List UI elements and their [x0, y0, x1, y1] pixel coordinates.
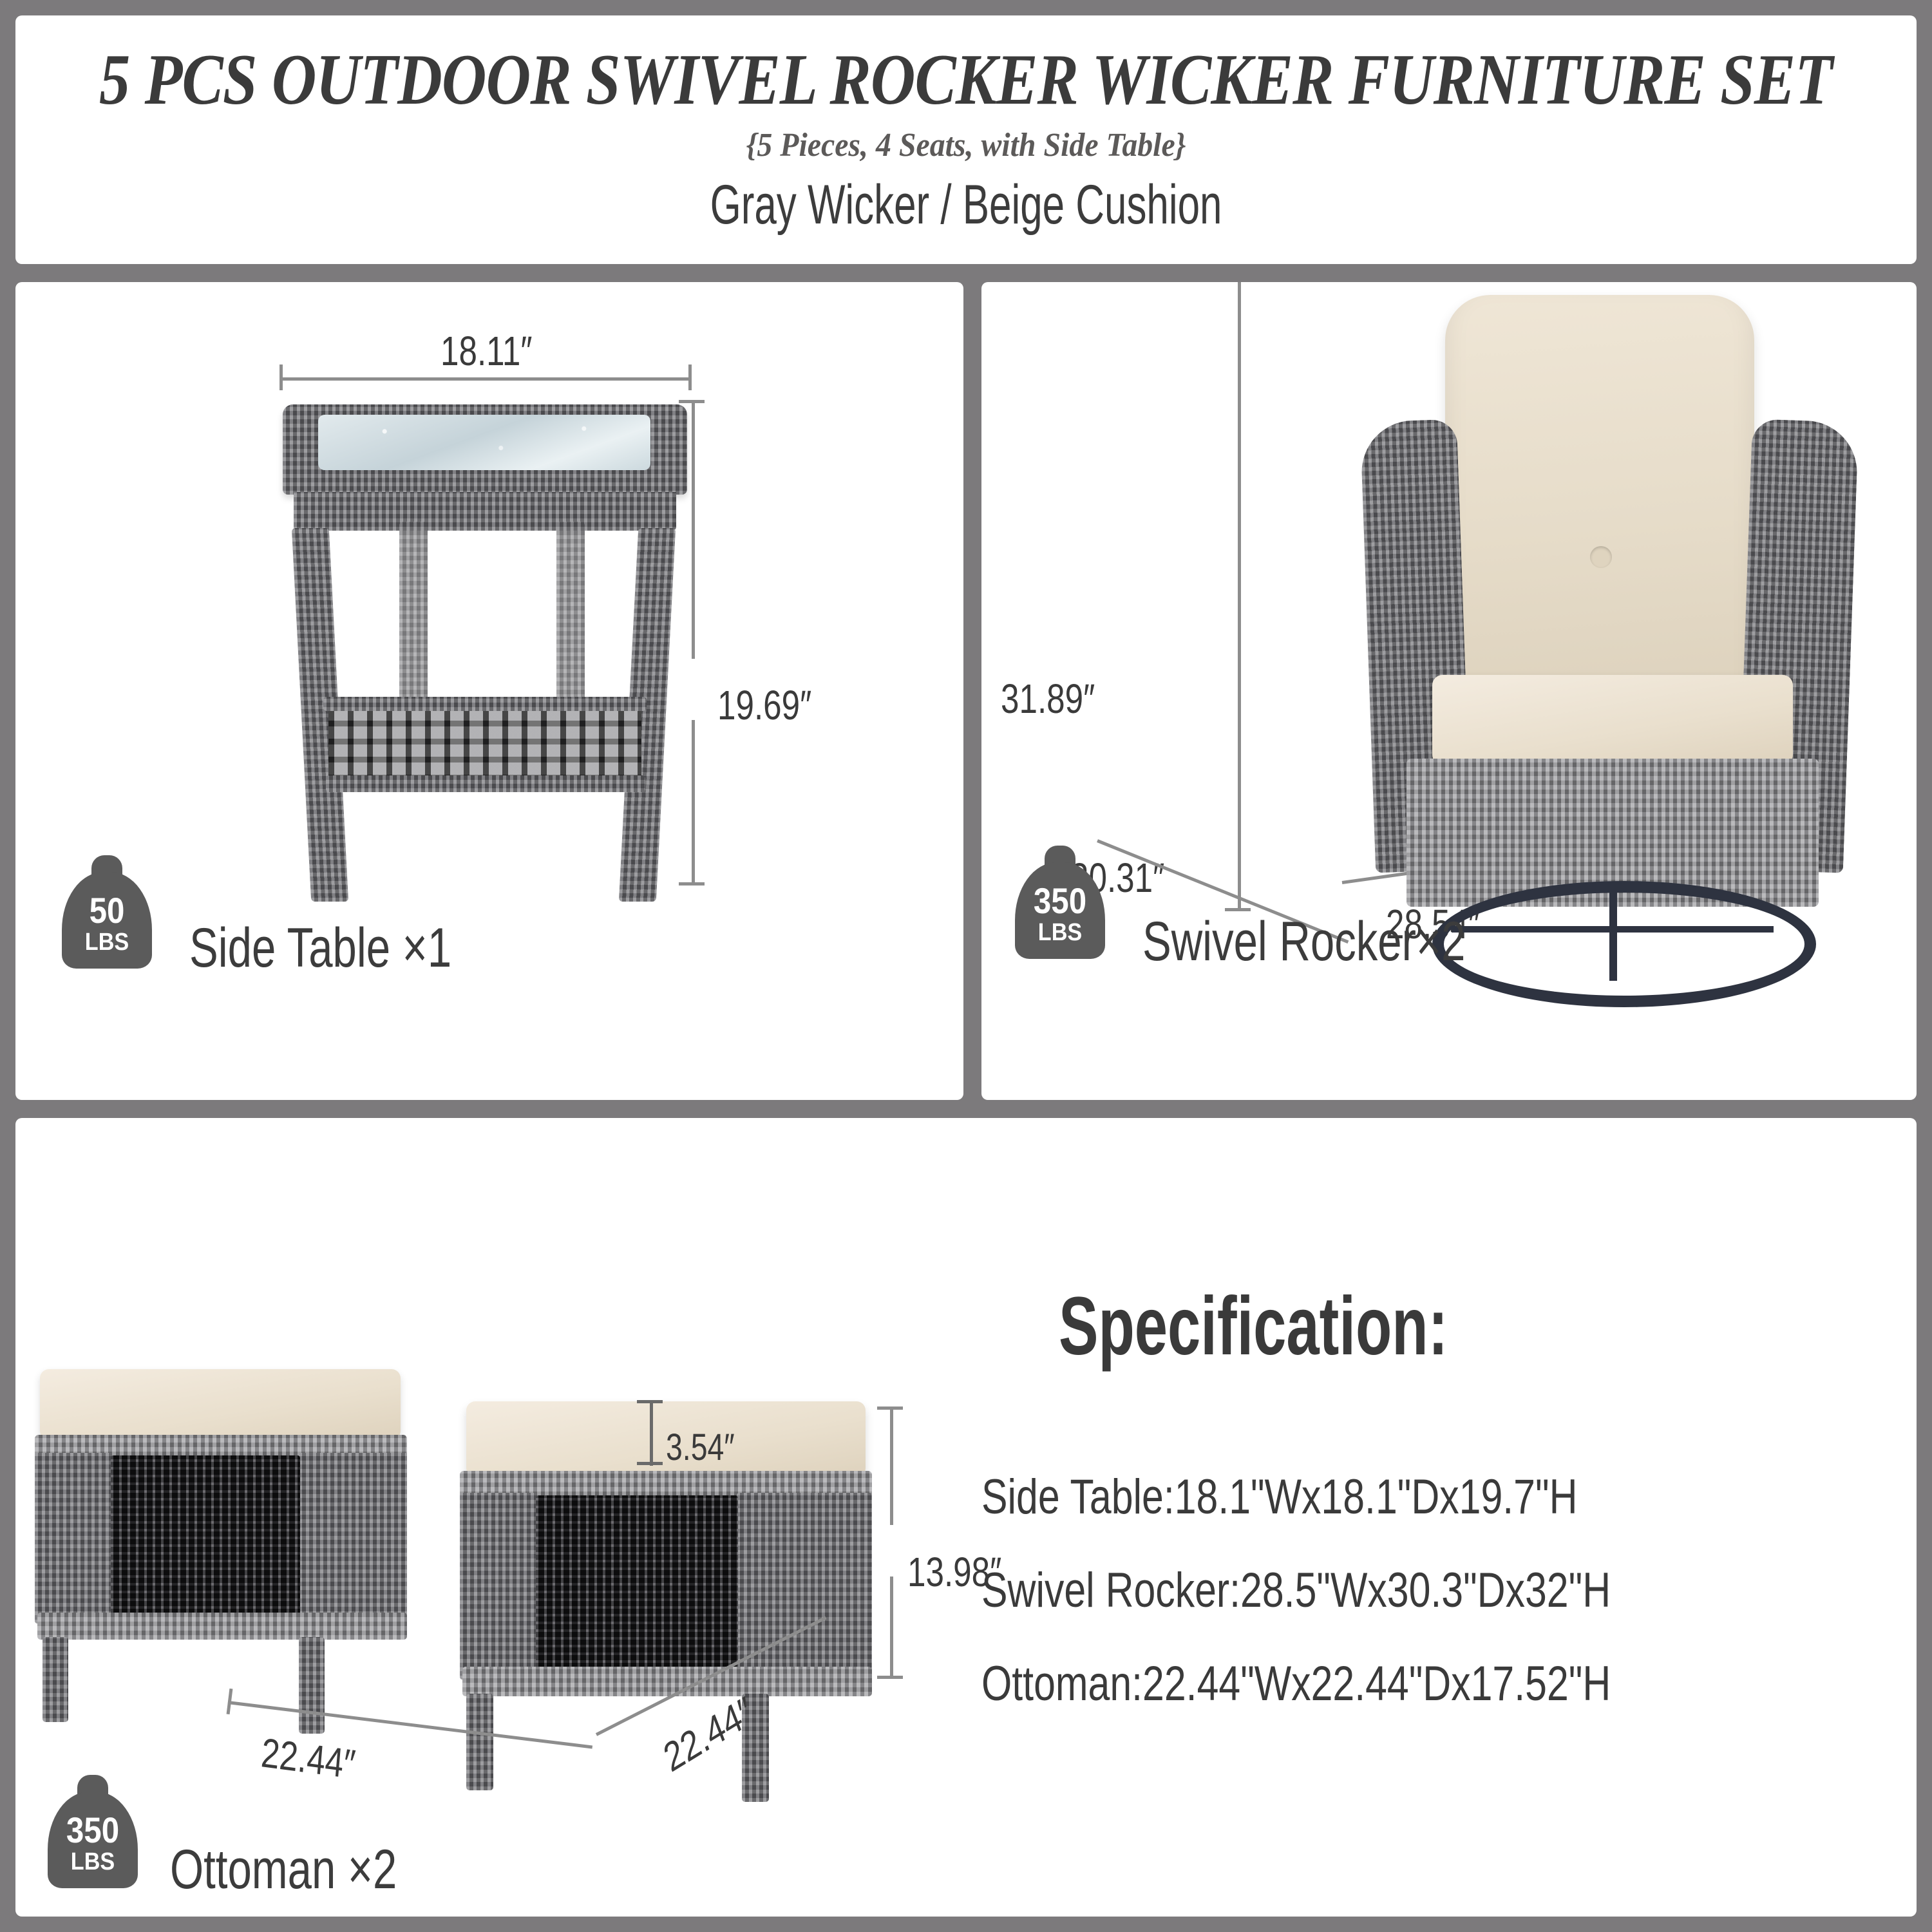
- ottoman-width-dimension: 22.44″: [260, 1728, 357, 1788]
- weight-unit: LBS: [1014, 920, 1106, 945]
- rocker-height-dimension: 31.89″: [1001, 675, 1095, 723]
- weight-value: 350: [48, 1812, 138, 1848]
- ottoman-leg: [299, 1637, 325, 1734]
- header-panel: 5 PCS OUTDOOR SWIVEL ROCKER WICKER FURNI…: [15, 15, 1917, 264]
- rocker-seat-cushion: [1432, 675, 1793, 765]
- ottoman-leg: [43, 1637, 68, 1722]
- ottoman-cushion: [40, 1369, 401, 1440]
- weight-value: 50: [62, 893, 153, 929]
- specification-line-swivel-rocker: Swivel Rocker:28.5"Wx30.3"Dx32"H: [981, 1562, 1611, 1618]
- swivel-rocker-panel: 31.89″ 3.54″ 30.31″ 28.54″: [981, 282, 1917, 1100]
- weight-capacity-badge: 350 LBS: [1009, 846, 1112, 959]
- ottoman-cushion-dimension: 3.54″: [666, 1426, 735, 1469]
- ottoman-frame-side: [460, 1493, 537, 1680]
- side-table-height-dimension: 19.69″: [717, 681, 811, 729]
- ottoman-piece-label: Ottoman ×2: [170, 1838, 397, 1902]
- weight-capacity-badge: 350 LBS: [41, 1775, 144, 1888]
- swivel-base-ring: [1432, 881, 1816, 1007]
- rocker-piece-label: Swivel Rocker×2: [1142, 910, 1465, 974]
- ottoman-and-specification-panel: 3.54″ 13.98″ 22.44″ 22.44″ 350 LBS Ottom…: [15, 1118, 1917, 1917]
- specification-line-ottoman: Ottoman:22.44"Wx22.44"Dx17.52"H: [981, 1656, 1611, 1712]
- side-table-shelf-rim: [323, 697, 647, 711]
- ottoman-frame-side: [299, 1453, 407, 1624]
- weight-capacity-badge: 50 LBS: [55, 855, 158, 969]
- side-table-leg: [399, 522, 428, 715]
- ottoman-frame-bottom: [37, 1613, 407, 1640]
- ottoman-leg: [466, 1694, 493, 1790]
- weight-value: 350: [1015, 883, 1106, 919]
- rocker-cushion-button: [1590, 546, 1612, 568]
- side-table-panel: 18.11″ 19.69″ 50 LBS Side: [15, 282, 963, 1100]
- ottoman-frame-bottom: [462, 1667, 872, 1696]
- weight-unit: LBS: [46, 1850, 139, 1874]
- ottoman-frame-side: [35, 1453, 112, 1624]
- side-table-leg: [556, 522, 585, 715]
- page-title: 5 PCS OUTDOOR SWIVEL ROCKER WICKER FURNI…: [99, 44, 1832, 116]
- subtitle: {5 Pieces, 4 Seats, with Side Table}: [746, 126, 1186, 164]
- weight-unit: LBS: [61, 930, 153, 954]
- side-table-apron: [294, 492, 676, 531]
- side-table-glass-top: [318, 415, 650, 470]
- side-table-lower-shelf: [328, 705, 641, 781]
- specification-title: Specification:: [1059, 1279, 1448, 1374]
- color-variant-label: Gray Wicker / Beige Cushion: [710, 173, 1222, 237]
- swivel-base-spoke: [1609, 884, 1617, 981]
- side-table-piece-label: Side Table ×1: [189, 916, 451, 980]
- swivel-base-spoke: [1452, 926, 1774, 933]
- specification-line-side-table: Side Table:18.1"Wx18.1"Dx19.7"H: [981, 1469, 1577, 1525]
- ottoman-open-shelf: [111, 1455, 300, 1616]
- side-table-shelf-rim: [326, 775, 645, 792]
- ottoman-open-shelf: [536, 1495, 738, 1671]
- side-table-width-dimension: 18.11″: [440, 327, 532, 375]
